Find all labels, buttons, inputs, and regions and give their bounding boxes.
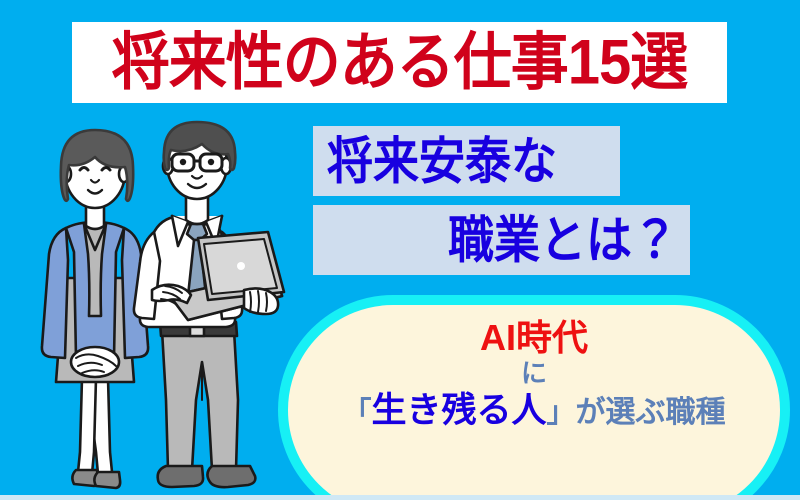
callout-tail-text: が選ぶ職種 bbox=[576, 396, 726, 429]
callout-content: AI時代 に 「生き残る人」が選ぶ職種 bbox=[288, 305, 780, 480]
illustration-business-people bbox=[22, 100, 294, 500]
bottom-edge-strip bbox=[0, 495, 800, 500]
callout-emphasis-survivors: 生き残る人 bbox=[371, 391, 546, 430]
highlight-text-2: 職業とは？ bbox=[448, 215, 678, 266]
callout-line-ai-era: AI時代 bbox=[480, 319, 588, 357]
people-illustration-svg bbox=[22, 100, 294, 500]
close-bracket: 」 bbox=[547, 397, 576, 429]
poster-canvas: 将来性のある仕事15選 将来安泰な 職業とは？ AI時代 に 「生き残る人」が選… bbox=[0, 0, 800, 500]
open-bracket: 「 bbox=[342, 397, 371, 429]
title-banner: 将来性のある仕事15選 bbox=[72, 22, 727, 103]
callout-line-survivors: 「生き残る人」が選ぶ職種 bbox=[342, 391, 725, 431]
highlight-bar-1: 将来安泰な bbox=[313, 126, 620, 196]
callout-line-ni: に bbox=[521, 357, 547, 390]
callout-box: AI時代 に 「生き残る人」が選ぶ職種 bbox=[278, 295, 790, 500]
highlight-bar-2: 職業とは？ bbox=[313, 205, 690, 275]
highlight-text-1: 将来安泰な bbox=[327, 136, 557, 187]
page-title: 将来性のある仕事15選 bbox=[112, 31, 688, 94]
